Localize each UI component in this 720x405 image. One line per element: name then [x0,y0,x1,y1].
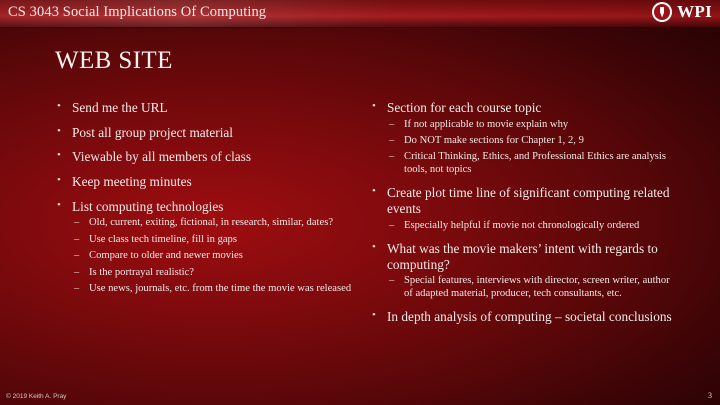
course-title: CS 3043 Social Implications Of Computing [8,4,266,21]
sub-bullet-list: Old, current, exiting, fictional, in res… [72,217,355,295]
list-item: List computing technologies Old, current… [55,199,355,296]
list-item: If not applicable to movie explain why [387,119,680,131]
list-item: Create plot time line of significant com… [370,185,680,232]
copyright-notice: © 2019 Keith A. Pray [6,393,66,400]
list-item: What was the movie makers’ intent with r… [370,241,680,300]
right-column: Section for each course topic If not app… [370,100,680,334]
list-item: Especially helpful if movie not chronolo… [387,220,680,232]
list-item: Viewable by all members of class [55,149,355,165]
list-item: Special features, interviews with direct… [387,275,680,300]
left-bullet-list: Send me the URL Post all group project m… [55,100,355,295]
list-item: Keep meeting minutes [55,174,355,190]
list-item: Post all group project material [55,125,355,141]
list-item: Critical Thinking, Ethics, and Professio… [387,151,680,176]
list-item: Old, current, exiting, fictional, in res… [72,217,355,229]
slide: CS 3043 Social Implications Of Computing… [0,0,720,405]
sub-bullet-text: Critical Thinking, Ethics, and Professio… [404,151,680,176]
right-bullet-list: Section for each course topic If not app… [370,100,680,325]
sub-bullet-text: Is the portrayal realistic? [89,267,355,279]
sub-bullet-list: If not applicable to movie explain why D… [387,119,680,177]
wpi-logo: WPI [652,2,712,22]
wpi-seal-icon [652,2,672,22]
list-item: Use class tech timeline, fill in gaps [72,234,355,246]
page-title: WEB SITE [55,47,173,75]
page-number: 3 [708,391,712,400]
sub-bullet-text: Compare to older and newer movies [89,250,355,262]
bullet-text: What was the movie makers’ intent with r… [387,241,680,272]
bullet-text: Keep meeting minutes [72,174,355,190]
sub-bullet-list: Special features, interviews with direct… [387,275,680,300]
list-item: Compare to older and newer movies [72,250,355,262]
sub-bullet-text: Especially helpful if movie not chronolo… [404,220,680,232]
bullet-text: Viewable by all members of class [72,149,355,165]
left-column: Send me the URL Post all group project m… [55,100,355,304]
list-item: Do NOT make sections for Chapter 1, 2, 9 [387,135,680,147]
list-item: Use news, journals, etc. from the time t… [72,283,355,295]
bullet-text: Send me the URL [72,100,355,116]
list-item: Send me the URL [55,100,355,116]
sub-bullet-text: Special features, interviews with direct… [404,275,680,300]
sub-bullet-text: If not applicable to movie explain why [404,119,680,131]
list-item: Section for each course topic If not app… [370,100,680,176]
wpi-logo-text: WPI [677,2,712,22]
bullet-text: Create plot time line of significant com… [387,185,680,216]
sub-bullet-list: Especially helpful if movie not chronolo… [387,220,680,232]
bullet-text: Post all group project material [72,125,355,141]
list-item: Is the portrayal realistic? [72,267,355,279]
sub-bullet-text: Use class tech timeline, fill in gaps [89,234,355,246]
bullet-text: In depth analysis of computing – societa… [387,309,680,325]
sub-bullet-text: Do NOT make sections for Chapter 1, 2, 9 [404,135,680,147]
bullet-text: Section for each course topic [387,100,680,116]
bullet-text: List computing technologies [72,199,355,215]
sub-bullet-text: Use news, journals, etc. from the time t… [89,283,355,295]
sub-bullet-text: Old, current, exiting, fictional, in res… [89,217,355,229]
list-item: In depth analysis of computing – societa… [370,309,680,325]
